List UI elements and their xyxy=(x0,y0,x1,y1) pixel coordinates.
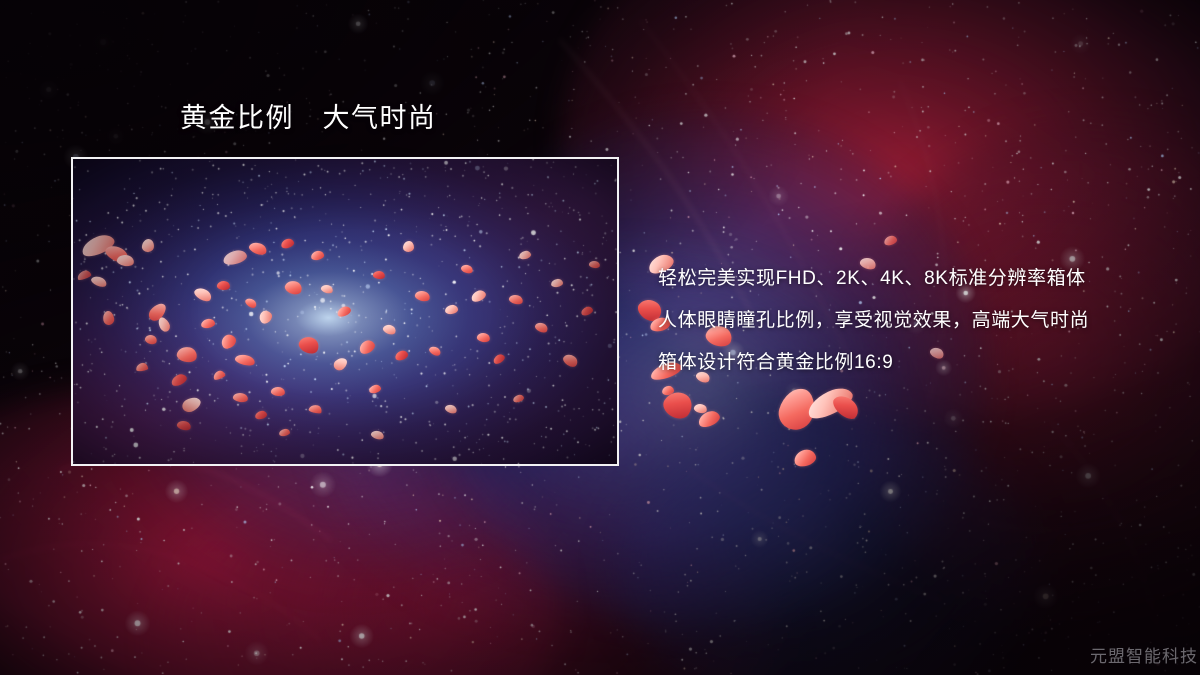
body-line-2: 人体眼睛瞳孔比例，享受视觉效果，高端大气时尚 xyxy=(658,300,1178,342)
watermark: 元盟智能科技 xyxy=(1090,642,1198,667)
body-line-3: 箱体设计符合黄金比例16:9 xyxy=(658,342,1178,384)
photo-vignette xyxy=(73,159,617,464)
photo-scene xyxy=(73,159,617,464)
page-title: 黄金比例 大气时尚 xyxy=(180,102,437,134)
body-line-1: 轻松完美实现FHD、2K、4K、8K标准分辨率箱体 xyxy=(658,258,1178,300)
body-copy: 轻松完美实现FHD、2K、4K、8K标准分辨率箱体 人体眼睛瞳孔比例，享受视觉效… xyxy=(658,258,1178,384)
framed-photo xyxy=(71,157,619,466)
presentation-slide: 黄金比例 大气时尚 轻松完美实现FHD、2K、4K、8K标准分辨率箱体 人体眼睛… xyxy=(0,0,1200,675)
